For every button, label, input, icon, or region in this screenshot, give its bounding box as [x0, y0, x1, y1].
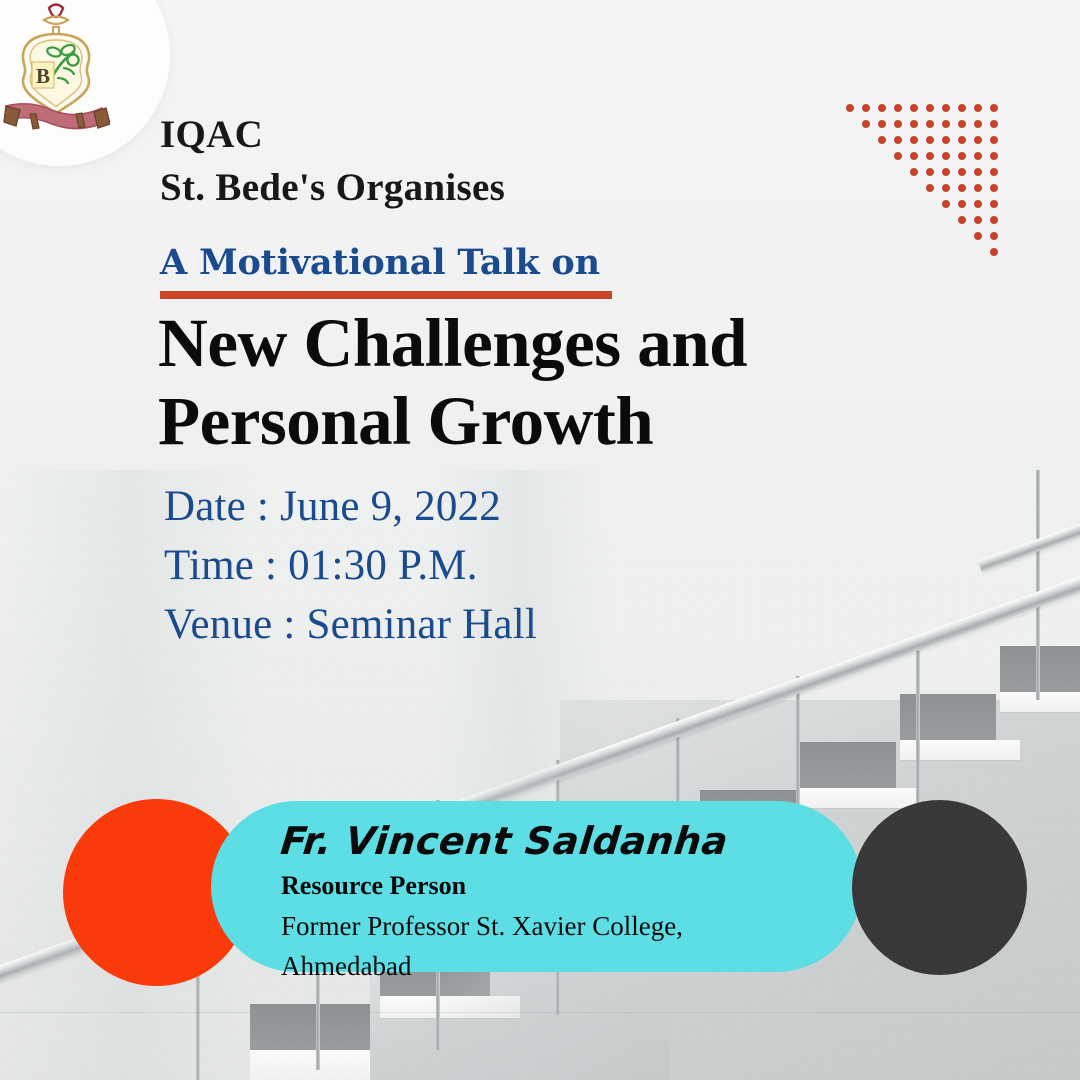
- event-date: Date : June 9, 2022: [164, 477, 537, 536]
- decorative-dot: [910, 152, 918, 160]
- decorative-dot: [926, 184, 934, 192]
- svg-text:B: B: [36, 64, 50, 88]
- event-subtitle: A Motivational Talk on: [160, 241, 600, 285]
- dot-row: [838, 152, 998, 168]
- organiser-line-college: St. Bede's Organises: [160, 161, 505, 214]
- decorative-dot: [958, 136, 966, 144]
- decorative-dot: [974, 232, 982, 240]
- decorative-dot: [910, 136, 918, 144]
- organiser-block: IQAC St. Bede's Organises: [160, 108, 505, 214]
- decorative-dark-circle: [852, 800, 1027, 975]
- dot-row: [838, 120, 998, 136]
- decorative-dot: [974, 216, 982, 224]
- decorative-dot: [974, 120, 982, 128]
- decorative-dot: [942, 104, 950, 112]
- dot-row: [838, 184, 998, 200]
- decorative-dot: [910, 168, 918, 176]
- decorative-dot: [990, 120, 998, 128]
- decorative-dot: [878, 120, 886, 128]
- dot-row: [838, 248, 998, 264]
- decorative-dot: [958, 216, 966, 224]
- event-title-line-1: New Challenges and: [158, 304, 858, 382]
- decorative-dot: [958, 120, 966, 128]
- speaker-affiliation: Former Professor St. Xavier College, Ahm…: [281, 906, 801, 986]
- decorative-dot: [926, 152, 934, 160]
- decorative-dot: [942, 184, 950, 192]
- organiser-line-iqac: IQAC: [160, 108, 505, 161]
- dot-triangle-decoration: [838, 104, 998, 264]
- decorative-dot: [974, 152, 982, 160]
- decorative-dot: [926, 120, 934, 128]
- event-title-line-2: Personal Growth: [158, 382, 858, 460]
- decorative-dot: [926, 168, 934, 176]
- college-crest-icon: B: [2, 2, 110, 152]
- dot-row: [838, 216, 998, 232]
- event-details-block: Date : June 9, 2022 Time : 01:30 P.M. Ve…: [164, 477, 537, 654]
- event-venue: Venue : Seminar Hall: [164, 595, 537, 654]
- decorative-dot: [878, 136, 886, 144]
- decorative-dot: [942, 152, 950, 160]
- decorative-dot: [878, 104, 886, 112]
- decorative-dot: [862, 120, 870, 128]
- decorative-dot: [974, 200, 982, 208]
- decorative-dot: [958, 168, 966, 176]
- subtitle-underline-rule: [160, 291, 612, 299]
- decorative-dot: [990, 168, 998, 176]
- decorative-dot: [894, 152, 902, 160]
- decorative-dot: [958, 104, 966, 112]
- decorative-dot: [974, 104, 982, 112]
- decorative-dot: [974, 168, 982, 176]
- dot-row: [838, 104, 998, 120]
- decorative-dot: [958, 200, 966, 208]
- decorative-dot: [942, 168, 950, 176]
- event-time: Time : 01:30 P.M.: [164, 536, 537, 595]
- decorative-dot: [910, 120, 918, 128]
- decorative-dot: [942, 120, 950, 128]
- decorative-dot: [958, 152, 966, 160]
- event-title: New Challenges and Personal Growth: [158, 304, 858, 460]
- speaker-role: Resource Person: [281, 870, 466, 902]
- decorative-dot: [942, 200, 950, 208]
- decorative-dot: [974, 136, 982, 144]
- decorative-dot: [990, 200, 998, 208]
- decorative-dot: [942, 136, 950, 144]
- decorative-dot: [894, 136, 902, 144]
- decorative-dot: [990, 184, 998, 192]
- speaker-name: Fr. Vincent Saldanha: [279, 818, 731, 864]
- decorative-dot: [862, 104, 870, 112]
- decorative-dot: [990, 104, 998, 112]
- dot-row: [838, 168, 998, 184]
- dot-row: [838, 136, 998, 152]
- decorative-dot: [974, 184, 982, 192]
- decorative-dot: [926, 104, 934, 112]
- decorative-dot: [846, 104, 854, 112]
- decorative-dot: [990, 216, 998, 224]
- decorative-dot: [958, 184, 966, 192]
- decorative-dot: [894, 104, 902, 112]
- event-poster: B IQAC St. Bede's Organises A Motivation…: [0, 0, 1080, 1080]
- decorative-dot: [894, 120, 902, 128]
- decorative-dot: [926, 136, 934, 144]
- decorative-dot: [990, 248, 998, 256]
- decorative-dot: [990, 232, 998, 240]
- dot-row: [838, 200, 998, 216]
- decorative-dot: [990, 136, 998, 144]
- dot-row: [838, 232, 998, 248]
- decorative-dot: [990, 152, 998, 160]
- decorative-dot: [910, 104, 918, 112]
